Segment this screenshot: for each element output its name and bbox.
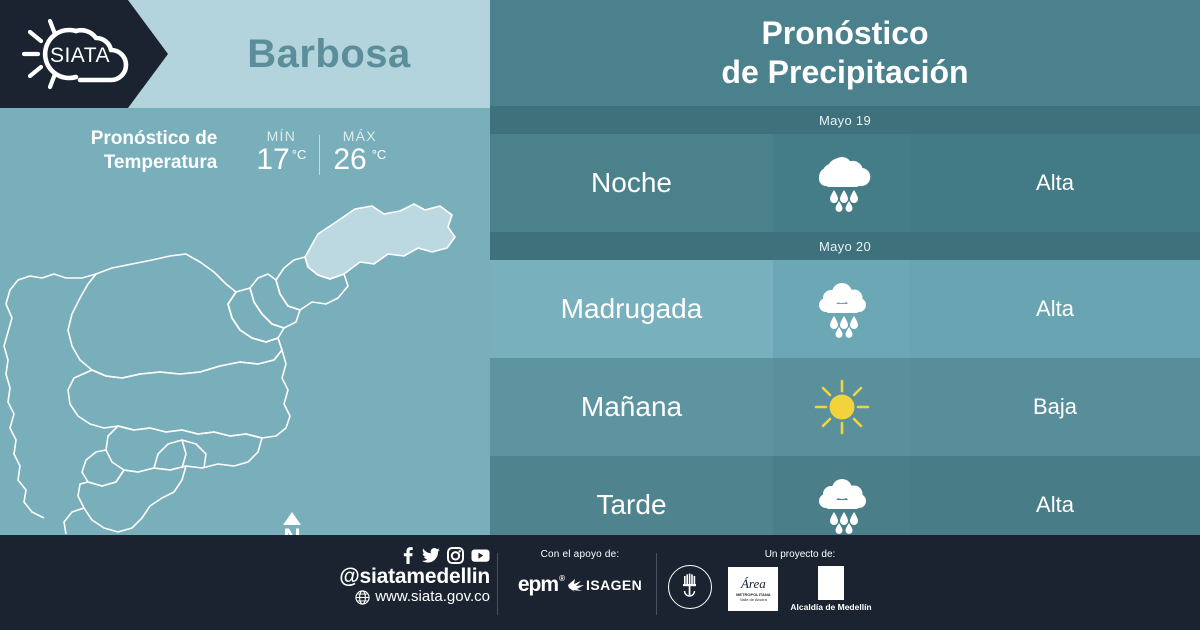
footer: @siatamedellin www.siata.gov.co Con el a… xyxy=(0,535,1200,630)
precipitation-panel: Pronóstico de Precipitación Mayo 19 Noch… xyxy=(490,0,1200,535)
rain-cloud-icon xyxy=(810,476,874,534)
area-metropolitana-logo: Área METROPOLITANA Valle de Aburrá xyxy=(728,567,778,611)
social-handle[interactable]: @siatamedellin xyxy=(300,566,490,588)
forecast-level-label: Alta xyxy=(1036,170,1074,196)
forecast-table: Mayo 19 Noche xyxy=(490,106,1200,554)
project-logos: Área METROPOLITANA Valle de Aburrá Alcal… xyxy=(700,566,900,612)
temperature-min-value: 17 xyxy=(256,145,289,175)
date-header-mayo-19: Mayo 19 xyxy=(490,106,1200,134)
date-header-mayo-20: Mayo 20 xyxy=(490,232,1200,260)
sun-cloud-icon: SIATA xyxy=(18,14,138,94)
temperature-min-label: MÍN xyxy=(267,128,297,144)
forecast-level-label: Baja xyxy=(1033,394,1077,420)
alcaldia-logo: Alcaldía de Medellín xyxy=(790,566,871,612)
forecast-icon-cell xyxy=(773,260,910,358)
temperature-max-unit: °C xyxy=(372,148,387,161)
support-caption: Con el apoyo de: xyxy=(505,549,655,560)
forecast-level-label: Alta xyxy=(1036,492,1074,518)
isagen-mark-icon xyxy=(568,578,584,592)
footer-divider-1 xyxy=(497,553,498,615)
temperature-min-unit: °C xyxy=(292,148,307,161)
forecast-period-label: Mañana xyxy=(581,391,682,423)
map-municipality-barbosa xyxy=(305,204,455,279)
website-line[interactable]: www.siata.gov.co xyxy=(300,588,490,606)
temperature-max-value: 26 xyxy=(333,145,366,175)
isagen-logo-text: ISAGEN xyxy=(586,577,642,593)
temperature-min: MÍN 17 °C xyxy=(243,128,319,175)
temperature-max: MÁX 26 °C xyxy=(320,128,399,175)
sun-icon xyxy=(812,377,872,437)
instagram-icon[interactable] xyxy=(447,547,464,564)
temperature-divider xyxy=(319,135,320,175)
map-svg xyxy=(0,182,490,535)
project-block: Un proyecto de: Área METROPOLITANA Valle… xyxy=(700,549,900,612)
forecast-icon-cell xyxy=(773,358,910,456)
forecast-row[interactable]: Noche xyxy=(490,134,1200,232)
forecast-level-cell: Baja xyxy=(910,358,1200,456)
project-caption: Un proyecto de: xyxy=(700,549,900,560)
twitter-icon[interactable] xyxy=(422,547,440,564)
forecast-level-cell: Alta xyxy=(910,134,1200,232)
alcaldia-label: Alcaldía de Medellín xyxy=(790,602,871,612)
precipitation-title: Pronóstico de Precipitación xyxy=(490,0,1200,106)
forecast-period-label: Madrugada xyxy=(561,293,703,325)
temperature-title-line2: Temperatura xyxy=(91,151,218,175)
globe-icon xyxy=(355,590,370,605)
epm-logo: epm® xyxy=(518,573,558,597)
forecast-period-label: Tarde xyxy=(596,489,666,521)
forecast-icon-cell xyxy=(773,134,910,232)
footer-divider-2 xyxy=(656,553,657,615)
forecast-period-cell: Mañana xyxy=(490,358,773,456)
epm-logo-text: epm xyxy=(518,573,558,596)
forecast-period-label: Noche xyxy=(591,167,672,199)
title-band: SIATA Barbosa xyxy=(0,0,490,108)
aburra-valley-map: N xyxy=(0,182,490,535)
facebook-icon[interactable] xyxy=(400,547,415,564)
forecast-level-label: Alta xyxy=(1036,296,1074,322)
temperature-title: Pronóstico de Temperatura xyxy=(91,127,218,176)
temperature-summary: Pronóstico de Temperatura MÍN 17 °C MÁX … xyxy=(0,118,490,184)
temperature-title-line1: Pronóstico de xyxy=(91,127,218,151)
support-logos: epm® ISAGEN xyxy=(505,573,655,597)
rain-cloud-icon xyxy=(810,280,874,338)
temperature-max-value-wrap: 26 °C xyxy=(333,145,386,175)
forecast-row[interactable]: Madrugada xyxy=(490,260,1200,358)
isagen-logo: ISAGEN xyxy=(568,577,642,593)
temperature-min-value-wrap: 17 °C xyxy=(256,145,306,175)
youtube-icon[interactable] xyxy=(471,547,490,564)
temperature-values: MÍN 17 °C MÁX 26 °C xyxy=(243,128,399,175)
precipitation-title-line2: de Precipitación xyxy=(721,53,968,92)
left-panel: SIATA Barbosa Pronóstico de Temperatura … xyxy=(0,0,490,535)
forecast-level-cell: Alta xyxy=(910,260,1200,358)
forecast-period-cell: Madrugada xyxy=(490,260,773,358)
weather-forecast-card: SIATA Barbosa Pronóstico de Temperatura … xyxy=(0,0,1200,630)
rain-cloud-icon xyxy=(810,154,874,212)
forecast-period-cell: Noche xyxy=(490,134,773,232)
support-block: Con el apoyo de: epm® ISAGEN xyxy=(505,549,655,597)
area-logo-line2: Valle de Aburrá xyxy=(740,597,767,602)
area-logo-word: Área xyxy=(741,577,766,590)
logo-chevron-badge: SIATA xyxy=(0,0,168,108)
svg-text:SIATA: SIATA xyxy=(50,44,110,67)
epm-registered-mark: ® xyxy=(559,574,564,583)
alcaldia-shield-icon xyxy=(818,566,844,600)
forecast-row[interactable]: Mañana xyxy=(490,358,1200,456)
temperature-max-label: MÁX xyxy=(343,128,377,144)
social-block: @siatamedellin www.siata.gov.co xyxy=(300,547,490,606)
city-title: Barbosa xyxy=(168,0,490,108)
social-icons xyxy=(300,547,490,564)
precipitation-title-line1: Pronóstico xyxy=(761,14,928,53)
website-url: www.siata.gov.co xyxy=(375,588,490,606)
